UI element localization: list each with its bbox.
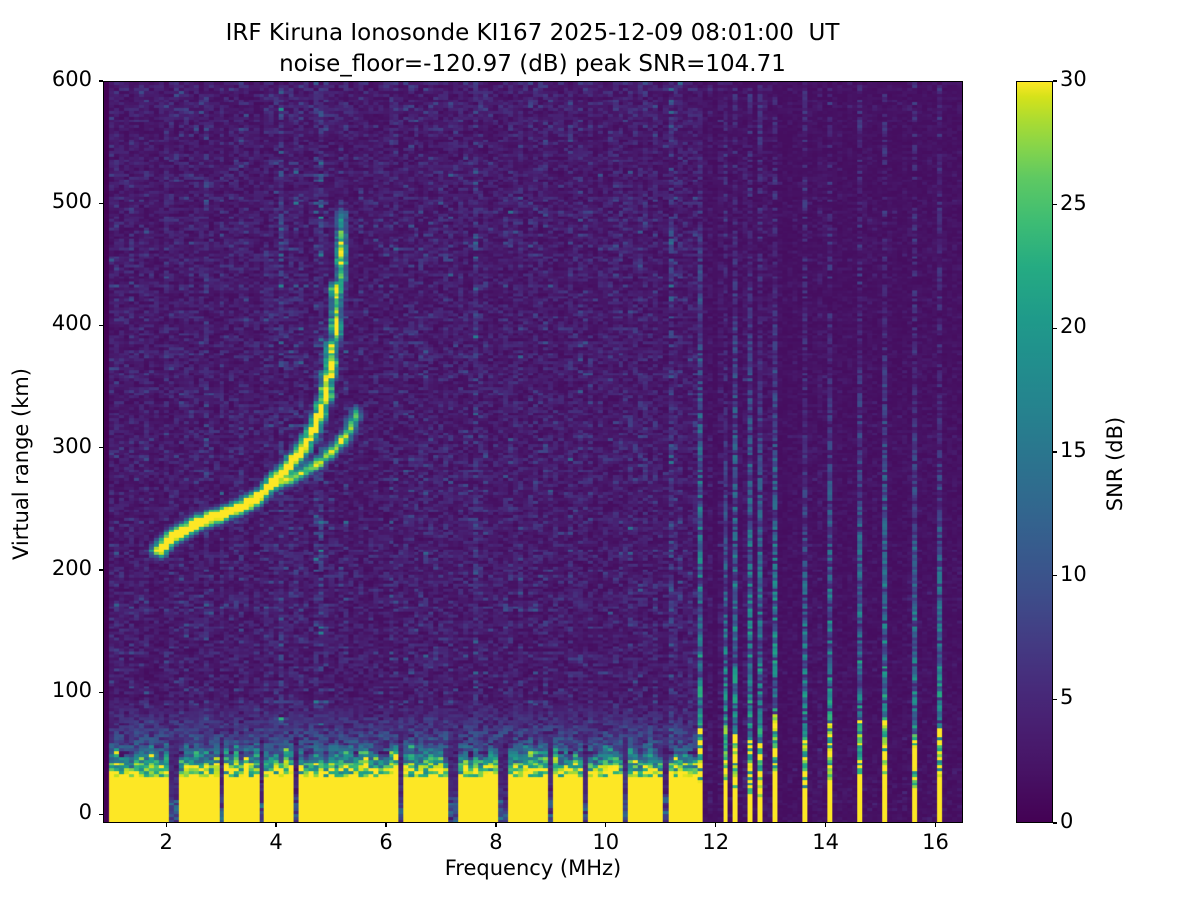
- y-axis-title: Virtual range (km): [9, 364, 33, 564]
- ionogram-plot-area: [103, 81, 963, 823]
- colorbar-tick-mark: [1053, 822, 1057, 823]
- snr-colorbar: [1016, 81, 1053, 823]
- x-tick-mark: [495, 823, 496, 827]
- x-axis-title: Frequency (MHz): [103, 856, 963, 880]
- x-tick-mark: [605, 823, 606, 827]
- x-tick-label: 16: [906, 830, 966, 854]
- colorbar-tick-label: 10: [1060, 562, 1087, 586]
- x-tick-label: 4: [246, 830, 306, 854]
- x-tick-label: 6: [356, 830, 416, 854]
- y-tick-mark: [99, 325, 103, 326]
- y-tick-mark: [99, 692, 103, 693]
- figure-title-line-1: IRF Kiruna Ionosonde KI167 2025-12-09 08…: [0, 18, 1065, 49]
- x-tick-mark: [825, 823, 826, 827]
- figure-title-line-2: noise_floor=-120.97 (dB) peak SNR=104.71: [0, 49, 1065, 80]
- y-tick-mark: [99, 814, 103, 815]
- y-tick-mark: [99, 447, 103, 448]
- colorbar-tick-label: 0: [1060, 809, 1073, 833]
- y-tick-label: 400: [0, 311, 92, 335]
- colorbar-tick-label: 20: [1060, 314, 1087, 338]
- colorbar-tick-label: 25: [1060, 191, 1087, 215]
- y-tick-mark: [99, 203, 103, 204]
- ionogram-figure: IRF Kiruna Ionosonde KI167 2025-12-09 08…: [0, 0, 1200, 900]
- x-tick-mark: [935, 823, 936, 827]
- colorbar-tick-mark: [1053, 204, 1057, 205]
- y-tick-label: 100: [0, 678, 92, 702]
- x-tick-label: 10: [576, 830, 636, 854]
- x-tick-mark: [166, 823, 167, 827]
- colorbar-tick-label: 5: [1060, 685, 1073, 709]
- x-tick-label: 14: [796, 830, 856, 854]
- colorbar-tick-mark: [1053, 699, 1057, 700]
- figure-title: IRF Kiruna Ionosonde KI167 2025-12-09 08…: [0, 18, 1065, 80]
- colorbar-tick-label: 30: [1060, 67, 1087, 91]
- colorbar-tick-mark: [1053, 80, 1057, 81]
- x-tick-label: 2: [136, 830, 196, 854]
- ionogram-heatmap: [104, 82, 962, 822]
- colorbar-tick-mark: [1053, 451, 1057, 452]
- y-tick-label: 500: [0, 189, 92, 213]
- x-tick-mark: [385, 823, 386, 827]
- y-tick-label: 600: [0, 67, 92, 91]
- x-tick-mark: [715, 823, 716, 827]
- colorbar-title: SNR (dB): [1103, 364, 1127, 564]
- x-tick-label: 12: [686, 830, 746, 854]
- x-tick-label: 8: [466, 830, 526, 854]
- y-tick-label: 0: [0, 800, 92, 824]
- x-tick-mark: [275, 823, 276, 827]
- colorbar-tick-mark: [1053, 575, 1057, 576]
- y-tick-mark: [99, 80, 103, 81]
- colorbar-tick-label: 15: [1060, 438, 1087, 462]
- y-tick-mark: [99, 569, 103, 570]
- colorbar-tick-mark: [1053, 328, 1057, 329]
